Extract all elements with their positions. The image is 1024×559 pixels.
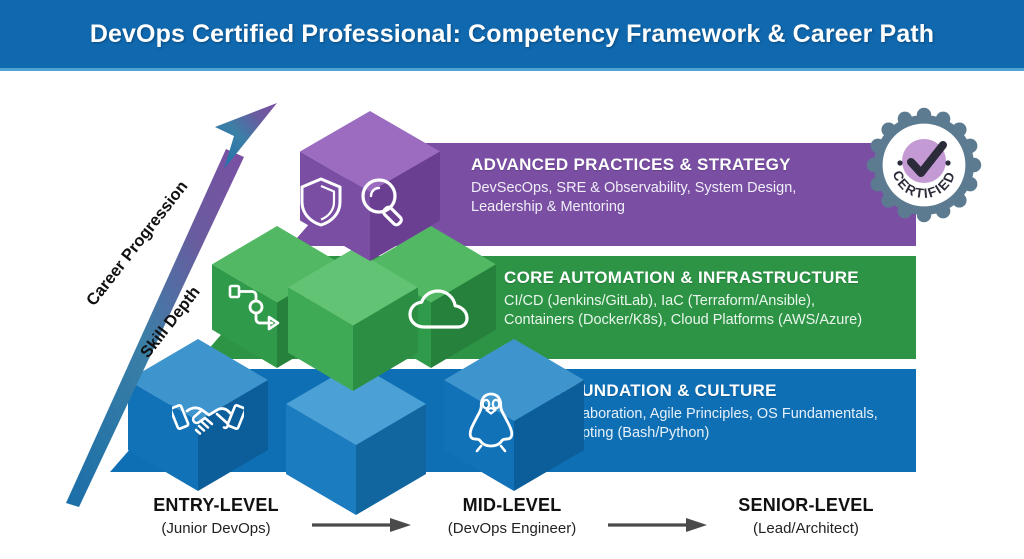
certified-badge: CERTIFIED bbox=[864, 105, 984, 225]
tier-desc-line: CI/CD (Jenkins/GitLab), IaC (Terraform/A… bbox=[504, 292, 904, 311]
career-path-row: ENTRY-LEVEL (Junior DevOps) MID-LEVEL (D… bbox=[0, 481, 1024, 551]
tier-desc-line: Containers (Docker/K8s), Cloud Platforms… bbox=[504, 311, 904, 330]
career-stage-mid-level[interactable]: MID-LEVEL (DevOps Engineer) bbox=[392, 495, 632, 537]
tier-description-foundation: Collaboration, Agile Principles, OS Fund… bbox=[557, 405, 916, 443]
diagram-canvas: FOUNDATION & CULTURE Collaboration, Agil… bbox=[0, 71, 1024, 559]
stage-subtitle: (Lead/Architect) bbox=[686, 520, 926, 537]
tier-desc-line: DevSecOps, SRE & Observability, System D… bbox=[471, 179, 891, 198]
tier-title-core: CORE AUTOMATION & INFRASTRUCTURE bbox=[504, 268, 916, 288]
cloud-icon bbox=[408, 289, 470, 333]
tier-description-core: CI/CD (Jenkins/GitLab), IaC (Terraform/A… bbox=[504, 292, 904, 330]
infographic-page: DevOps Certified Professional: Competenc… bbox=[0, 0, 1024, 559]
tier-band-foundation[interactable]: FOUNDATION & CULTURE Collaboration, Agil… bbox=[352, 369, 916, 472]
stage-subtitle: (Junior DevOps) bbox=[96, 520, 336, 537]
tier-description-advanced: DevSecOps, SRE & Observability, System D… bbox=[471, 179, 891, 217]
tier-title-foundation: FOUNDATION & CULTURE bbox=[557, 381, 916, 401]
stage-subtitle: (DevOps Engineer) bbox=[392, 520, 632, 537]
tier-title-advanced: ADVANCED PRACTICES & STRATEGY bbox=[471, 155, 916, 175]
stage-title: ENTRY-LEVEL bbox=[96, 495, 336, 516]
shield-icon bbox=[298, 176, 344, 228]
magnifier-icon bbox=[358, 175, 410, 229]
career-stage-senior-level[interactable]: SENIOR-LEVEL (Lead/Architect) bbox=[686, 495, 926, 537]
stage-title: MID-LEVEL bbox=[392, 495, 632, 516]
linux-penguin-icon bbox=[464, 391, 518, 453]
career-stage-entry-level[interactable]: ENTRY-LEVEL (Junior DevOps) bbox=[96, 495, 336, 537]
cube-core-center bbox=[288, 249, 418, 391]
page-title: DevOps Certified Professional: Competenc… bbox=[90, 20, 934, 49]
tier-desc-line: Leadership & Mentoring bbox=[471, 198, 891, 217]
stage-title: SENIOR-LEVEL bbox=[686, 495, 926, 516]
tier-desc-line: Scripting (Bash/Python) bbox=[557, 424, 916, 443]
page-header: DevOps Certified Professional: Competenc… bbox=[0, 0, 1024, 68]
tier-desc-line: Collaboration, Agile Principles, OS Fund… bbox=[557, 405, 916, 424]
